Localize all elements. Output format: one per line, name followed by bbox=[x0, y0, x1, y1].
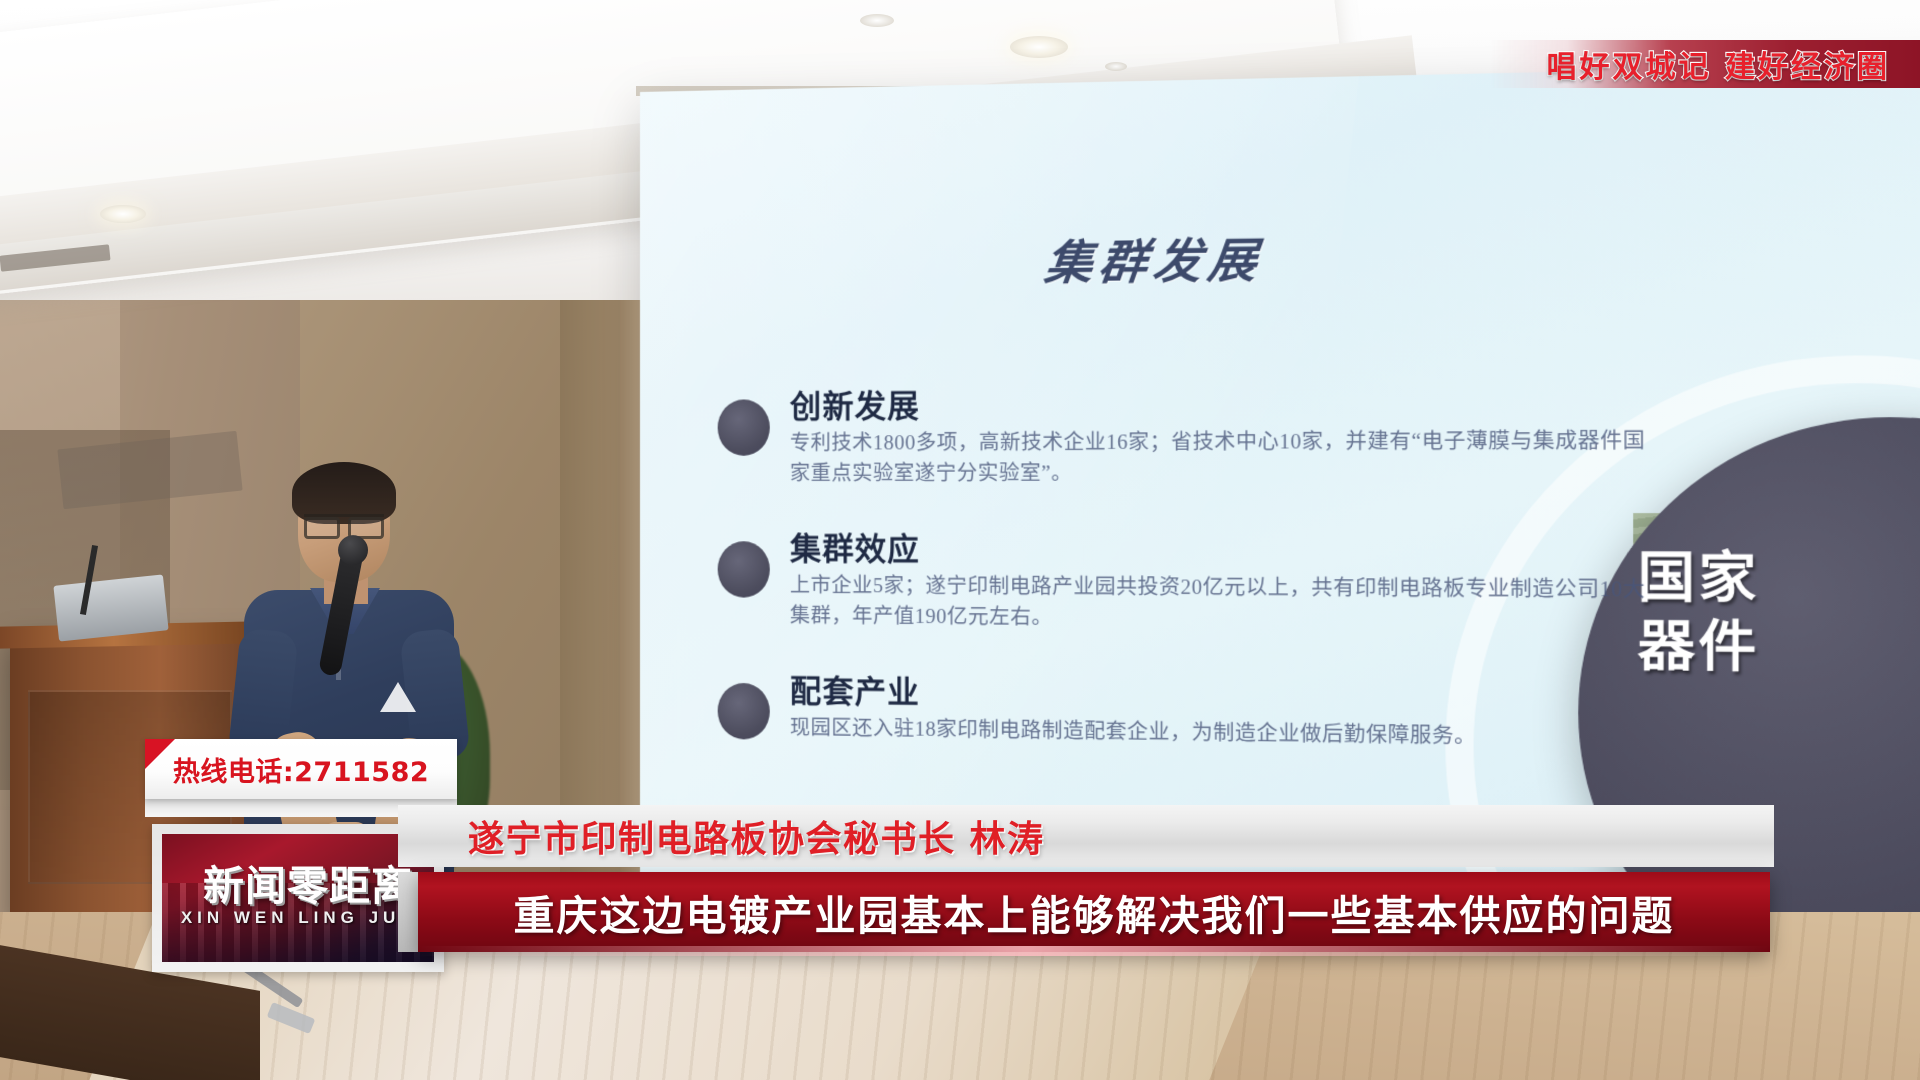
bullet-heading: 配套产业 bbox=[790, 665, 1655, 721]
bullet-body: 专利技术1800多项，高新技术企业16家；省技术中心10家，并建有“电子薄膜与集… bbox=[790, 425, 1655, 488]
subtitle-bar-glow bbox=[418, 946, 1770, 956]
top-banner-text: 唱好双城记 建好经济圈 bbox=[1547, 42, 1890, 86]
subtitle-bar-left-cap bbox=[398, 872, 420, 952]
bullet-dot-icon bbox=[718, 541, 770, 598]
slide-bullet-list: 创新发展 专利技术1800多项，高新技术企业16家；省技术中心10家，并建有“电… bbox=[670, 376, 1655, 791]
hotline-text: 热线电话:2711582 bbox=[173, 750, 429, 789]
speaker-shirt-logo-icon bbox=[380, 682, 416, 712]
projection-screen: 国家 器件 集群发展 创新发展 专利技术1800多项，高新技术企业16家；省技术… bbox=[640, 62, 1920, 922]
top-right-slogan-banner: 唱好双城记 建好经济圈 bbox=[1490, 40, 1920, 88]
hotline-box: 热线电话:2711582 bbox=[145, 739, 457, 799]
bullet-heading: 创新发展 bbox=[790, 376, 1655, 427]
smoke-detector-icon bbox=[860, 14, 894, 27]
speaker-name-text: 遂宁市印制电路板协会秘书长 林涛 bbox=[468, 810, 1045, 862]
subtitle-text: 重庆这边电镀产业园基本上能够解决我们一些基本供应的问题 bbox=[514, 882, 1675, 942]
program-logo-inner: 新闻零距离 XIN WEN LING JU LI bbox=[162, 834, 434, 962]
slide-circle-text: 国家 器件 bbox=[1638, 545, 1760, 683]
bullet-dot-icon bbox=[718, 399, 770, 456]
bullet-heading: 集群效应 bbox=[790, 523, 1655, 572]
hotline-corner-triangle-icon bbox=[145, 739, 175, 769]
slide-bullet-item: 创新发展 专利技术1800多项，高新技术企业16家；省技术中心10家，并建有“电… bbox=[670, 376, 1655, 489]
bullet-body: 上市企业5家；遂宁印制电路产业园共投资20亿元以上，共有印制电路板专业制造公司1… bbox=[790, 571, 1655, 638]
bullet-dot-icon bbox=[718, 683, 770, 740]
speaker-name-bar: 遂宁市印制电路板协会秘书长 林涛 bbox=[398, 805, 1774, 867]
slide-bullet-item: 配套产业 现园区还入驻18家印制电路制造配套企业，为制造企业做后勤保障服务。 bbox=[670, 664, 1655, 755]
program-logo-name-cn: 新闻零距离 bbox=[172, 852, 434, 912]
slide-circle-line1: 国家 bbox=[1638, 545, 1760, 614]
slide-circle-line2: 器件 bbox=[1638, 613, 1760, 683]
slide-bullet-item: 集群效应 上市企业5家；遂宁印制电路产业园共投资20亿元以上，共有印制电路板专业… bbox=[670, 523, 1655, 638]
program-logo-name-pinyin: XIN WEN LING JU LI bbox=[172, 908, 434, 928]
laptop bbox=[53, 574, 168, 641]
broadcast-screenshot: 国家 器件 集群发展 创新发展 专利技术1800多项，高新技术企业16家；省技术… bbox=[0, 0, 1920, 1080]
speaker-glasses-icon bbox=[304, 514, 384, 533]
smoke-detector-icon bbox=[1105, 62, 1127, 71]
ceiling-downlight-icon bbox=[100, 205, 146, 223]
slide-title: 集群发展 bbox=[1042, 223, 1267, 294]
subtitle-bar: 重庆这边电镀产业园基本上能够解决我们一些基本供应的问题 bbox=[418, 872, 1770, 952]
ceiling-downlight-icon bbox=[1010, 36, 1068, 58]
